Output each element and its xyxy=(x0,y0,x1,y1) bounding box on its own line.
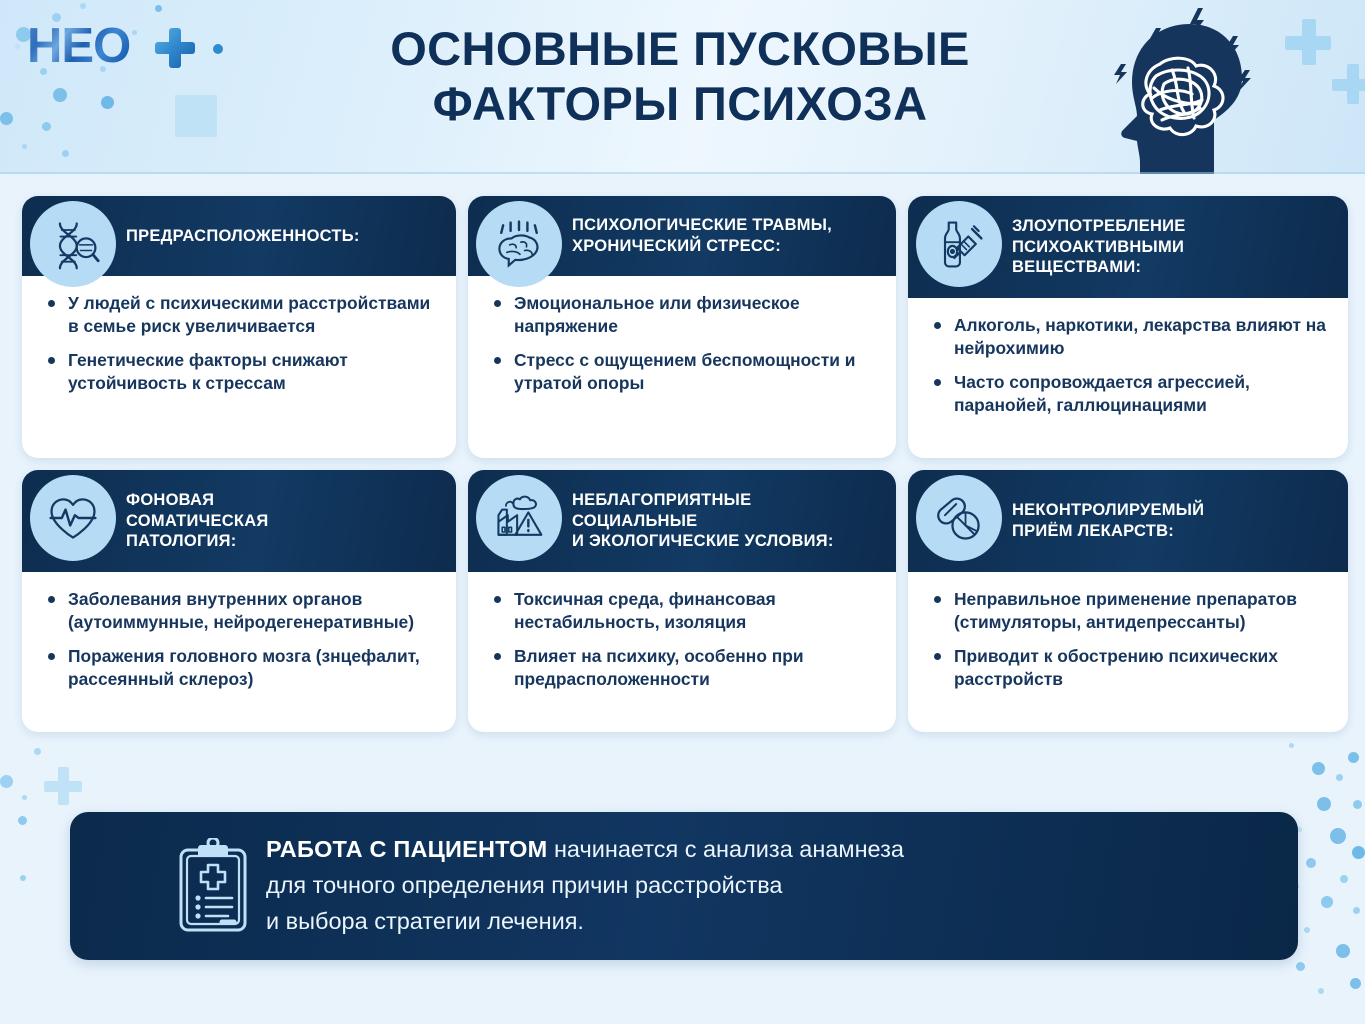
decor-dot xyxy=(1348,752,1359,763)
decor-dot xyxy=(213,44,223,54)
decor-cross xyxy=(175,95,217,137)
factory-warning-icon xyxy=(476,475,562,561)
decor-dot xyxy=(1353,800,1362,809)
list-item: Алкоголь, наркотики, лекарства влияют на… xyxy=(930,314,1330,359)
factor-card-predisposition[interactable]: ПРЕДРАСПОЛОЖЕННОСТЬ: У людей с психическ… xyxy=(22,196,456,458)
decor-dot xyxy=(18,816,27,825)
card-bullet-list: Токсичная среда, финансовая нестабильнос… xyxy=(490,588,878,691)
decor-dot xyxy=(155,5,162,12)
list-item: Токсичная среда, финансовая нестабильнос… xyxy=(490,588,878,633)
decor-dot xyxy=(1352,846,1365,859)
decor-dot xyxy=(1306,858,1316,868)
decor-dot xyxy=(22,144,27,149)
dna-magnifier-icon xyxy=(30,201,116,287)
decor-dot xyxy=(1304,927,1310,933)
footer-line-1: РАБОТА С ПАЦИЕНТОМ начинается с анализа … xyxy=(266,832,904,868)
list-item: Влияет на психику, особенно при предрасп… xyxy=(490,645,878,690)
card-body: Неправильное применение препаратов (стим… xyxy=(908,572,1348,709)
decor-dot xyxy=(1312,762,1325,775)
card-body: Эмоциональное или физическое напряжение … xyxy=(468,276,896,413)
page-title-line-1: ОСНОВНЫЕ ПУСКОВЫЕ xyxy=(300,22,1060,77)
decor-dot xyxy=(80,3,86,9)
decor-dot xyxy=(1321,896,1333,908)
list-item: Часто сопровождается агрессией, паранойе… xyxy=(930,371,1330,416)
pills-icon xyxy=(916,475,1002,561)
card-bullet-list: У людей с психическими расстройствами в … xyxy=(44,292,438,395)
footer-message: РАБОТА С ПАЦИЕНТОМ начинается с анализа … xyxy=(266,832,904,940)
factor-card-social-ecological[interactable]: НЕБЛАГОПРИЯТНЫЕ СОЦИАЛЬНЫЕ И ЭКОЛОГИЧЕСК… xyxy=(468,470,896,732)
footer-lead: РАБОТА С ПАЦИЕНТОМ xyxy=(266,836,547,862)
brand-logo-text: НЕО xyxy=(27,22,130,71)
decor-dot xyxy=(62,150,69,157)
header-band: НЕО ОСНОВНЫЕ ПУСКОВЫЕ ФАКТОРЫ ПСИХОЗА xyxy=(0,0,1365,174)
decor-dot xyxy=(101,96,114,109)
brand-plus-icon xyxy=(155,28,195,68)
decor-dot xyxy=(42,122,51,131)
clipboard-medical-icon xyxy=(176,838,250,934)
decor-dot xyxy=(22,795,27,800)
header-divider xyxy=(0,172,1365,174)
brand-logo[interactable]: НЕО xyxy=(27,17,197,75)
factor-card-somatic-pathology[interactable]: ФОНОВАЯ СОМАТИЧЕСКАЯ ПАТОЛОГИЯ: Заболева… xyxy=(22,470,456,732)
footer-line-2: для точного определения причин расстройс… xyxy=(266,868,904,904)
decor-dot xyxy=(1317,797,1331,811)
card-title: ЗЛОУПОТРЕБЛЕНИЕ ПСИХОАКТИВНЫМИ ВЕЩЕСТВАМ… xyxy=(1012,216,1186,279)
decor-dot xyxy=(34,748,41,755)
card-bullet-list: Неправильное применение препаратов (стим… xyxy=(930,588,1330,691)
list-item: Заболевания внутренних органов (аутоимму… xyxy=(44,588,438,633)
stressed-brain-icon xyxy=(476,201,562,287)
decor-dot xyxy=(1318,988,1324,994)
decor-dot xyxy=(1289,743,1294,748)
head-brain-illustration xyxy=(1090,2,1290,174)
list-item: Эмоциональное или физическое напряжение xyxy=(490,292,878,337)
decor-cross xyxy=(1332,64,1365,104)
page-title-line-2: ФАКТОРЫ ПСИХОЗА xyxy=(300,77,1060,132)
card-bullet-list: Заболевания внутренних органов (аутоимму… xyxy=(44,588,438,691)
decor-dot xyxy=(1336,774,1343,781)
list-item: Генетические факторы снижают устойчивост… xyxy=(44,349,438,394)
list-item: Неправильное применение препаратов (стим… xyxy=(930,588,1330,633)
decor-dot xyxy=(20,875,26,881)
factor-card-substance-abuse[interactable]: ЗЛОУПОТРЕБЛЕНИЕ ПСИХОАКТИВНЫМИ ВЕЩЕСТВАМ… xyxy=(908,196,1348,458)
card-title: НЕБЛАГОПРИЯТНЫЕ СОЦИАЛЬНЫЕ И ЭКОЛОГИЧЕСК… xyxy=(572,490,834,553)
bottle-syringe-icon xyxy=(916,201,1002,287)
decor-dot xyxy=(53,88,67,102)
factor-card-psychological-trauma[interactable]: ПСИХОЛОГИЧЕСКИЕ ТРАВМЫ, ХРОНИЧЕСКИЙ СТРЕ… xyxy=(468,196,896,458)
footer-line-3: и выбора стратегии лечения. xyxy=(266,904,904,940)
decor-dot xyxy=(1340,875,1348,883)
infographic-page: НЕО ОСНОВНЫЕ ПУСКОВЫЕ ФАКТОРЫ ПСИХОЗА xyxy=(0,0,1365,1024)
factor-card-uncontrolled-medication[interactable]: НЕКОНТРОЛИРУЕМЫЙ ПРИЁМ ЛЕКАРСТВ: Неправи… xyxy=(908,470,1348,732)
card-bullet-list: Алкоголь, наркотики, лекарства влияют на… xyxy=(930,314,1330,417)
decor-dot xyxy=(0,112,13,125)
card-title: НЕКОНТРОЛИРУЕМЫЙ ПРИЁМ ЛЕКАРСТВ: xyxy=(1012,500,1204,542)
decor-dot xyxy=(1296,962,1305,971)
heart-pulse-icon xyxy=(30,475,116,561)
decor-dot xyxy=(1350,978,1361,989)
footer-banner: РАБОТА С ПАЦИЕНТОМ начинается с анализа … xyxy=(70,812,1298,960)
card-bullet-list: Эмоциональное или физическое напряжение … xyxy=(490,292,878,395)
page-title: ОСНОВНЫЕ ПУСКОВЫЕ ФАКТОРЫ ПСИХОЗА xyxy=(300,22,1060,131)
list-item: Стресс с ощущением беспомощности и утрат… xyxy=(490,349,878,394)
factor-card-grid: ПРЕДРАСПОЛОЖЕННОСТЬ: У людей с психическ… xyxy=(22,196,1344,732)
decor-dot xyxy=(0,775,13,788)
card-title: ФОНОВАЯ СОМАТИЧЕСКАЯ ПАТОЛОГИЯ: xyxy=(126,490,268,553)
list-item: Поражения головного мозга (знцефалит, ра… xyxy=(44,645,438,690)
footer-line-1-rest: начинается с анализа анамнеза xyxy=(547,836,904,862)
decor-cross xyxy=(44,767,82,805)
decor-dot xyxy=(15,44,20,49)
decor-cross xyxy=(1285,19,1331,65)
decor-dot xyxy=(1330,828,1346,844)
card-body: Алкоголь, наркотики, лекарства влияют на… xyxy=(908,298,1348,435)
list-item: У людей с психическими расстройствами в … xyxy=(44,292,438,337)
card-body: Заболевания внутренних органов (аутоимму… xyxy=(22,572,456,709)
decor-dot xyxy=(1353,907,1360,914)
card-title: ПСИХОЛОГИЧЕСКИЕ ТРАВМЫ, ХРОНИЧЕСКИЙ СТРЕ… xyxy=(572,215,832,257)
card-body: Токсичная среда, финансовая нестабильнос… xyxy=(468,572,896,709)
decor-dot xyxy=(1336,944,1350,958)
card-title: ПРЕДРАСПОЛОЖЕННОСТЬ: xyxy=(126,226,360,247)
card-body: У людей с психическими расстройствами в … xyxy=(22,276,456,413)
list-item: Приводит к обострению психических расстр… xyxy=(930,645,1330,690)
